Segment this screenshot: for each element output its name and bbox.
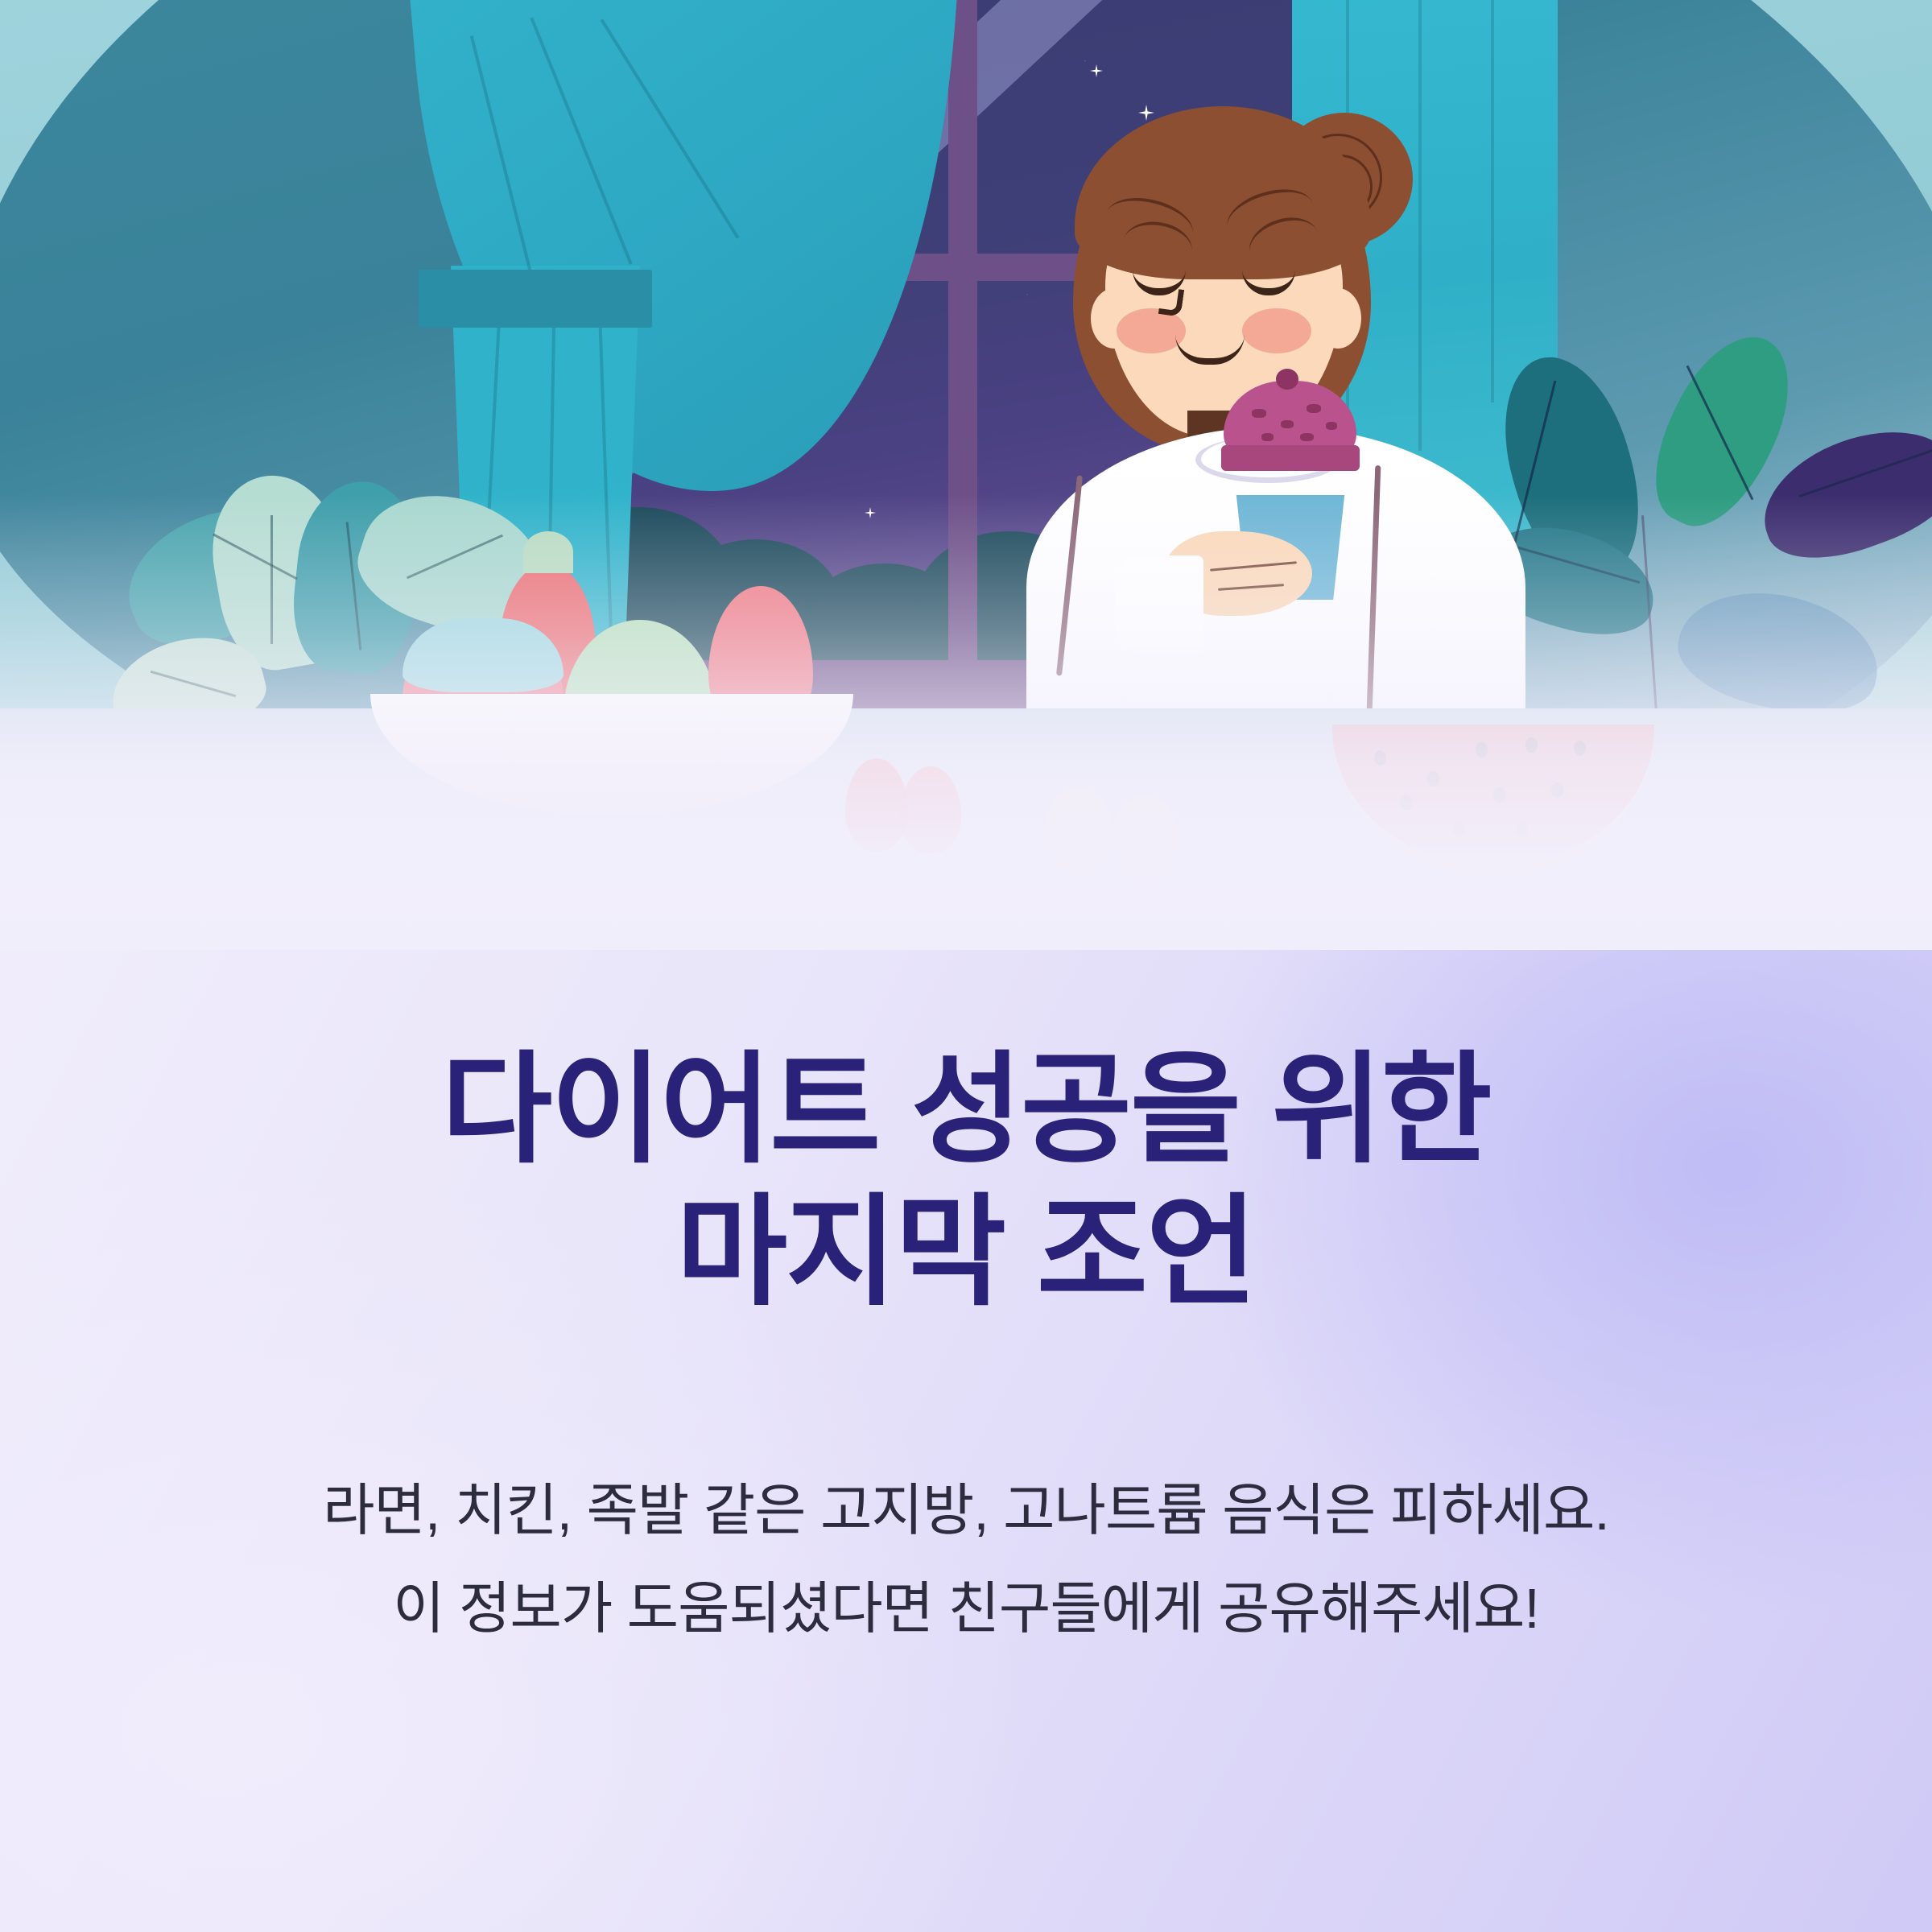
body-line-2: 이 정보가 도움되셨다면 친구들에게 공유해주세요! <box>0 1560 1932 1658</box>
cupcake-base <box>1221 445 1360 471</box>
text-content: 다이어트 성공을 위한 마지막 조언 라면, 치킨, 족발 같은 고지방, 고나… <box>0 1038 1932 1658</box>
curtain-tieback-left <box>419 270 652 328</box>
sprinkle <box>1281 420 1294 428</box>
page-title: 다이어트 성공을 위한 마지막 조언 <box>0 1038 1932 1323</box>
sprinkle <box>1326 422 1337 430</box>
body-text: 라면, 치킨, 족발 같은 고지방, 고나트륨 음식은 피하세요. 이 정보가 … <box>0 1462 1932 1658</box>
cupcake-cherry <box>1276 369 1298 390</box>
watermelon-seed <box>1453 821 1465 836</box>
woman-character <box>1010 105 1542 741</box>
sprinkle <box>1307 404 1321 413</box>
watermelon-seed <box>1516 823 1528 838</box>
banana-slice <box>1113 795 1179 879</box>
sprinkle <box>1261 433 1274 441</box>
banana-slice <box>1045 787 1113 874</box>
sprinkle <box>1300 433 1314 441</box>
watermelon-seed <box>1525 737 1538 753</box>
watermelon-seed <box>1374 750 1386 766</box>
watermelon-seed <box>1551 782 1563 798</box>
leaf-vein <box>270 515 273 644</box>
body-line-1: 라면, 치킨, 족발 같은 고지방, 고나트륨 음식은 피하세요. <box>0 1462 1932 1560</box>
watermelon-seed <box>1493 787 1505 803</box>
cheek-left <box>1117 308 1186 353</box>
watermelon-seed <box>1574 741 1586 756</box>
watermelon-seed <box>1476 742 1488 758</box>
window-mullion-vertical <box>948 0 977 684</box>
cheek-right <box>1242 308 1311 353</box>
sprinkle <box>1252 409 1266 418</box>
illustration-scene <box>0 0 1932 950</box>
strawberry-leaf <box>523 531 573 573</box>
headline-line-2: 마지막 조언 <box>0 1181 1932 1323</box>
headline-line-1: 다이어트 성공을 위한 <box>0 1038 1932 1181</box>
social-card: 다이어트 성공을 위한 마지막 조언 라면, 치킨, 족발 같은 고지방, 고나… <box>0 0 1932 1932</box>
watermelon-seed <box>1427 771 1439 786</box>
watermelon-seed <box>1400 795 1412 811</box>
sleeve <box>1115 555 1203 652</box>
